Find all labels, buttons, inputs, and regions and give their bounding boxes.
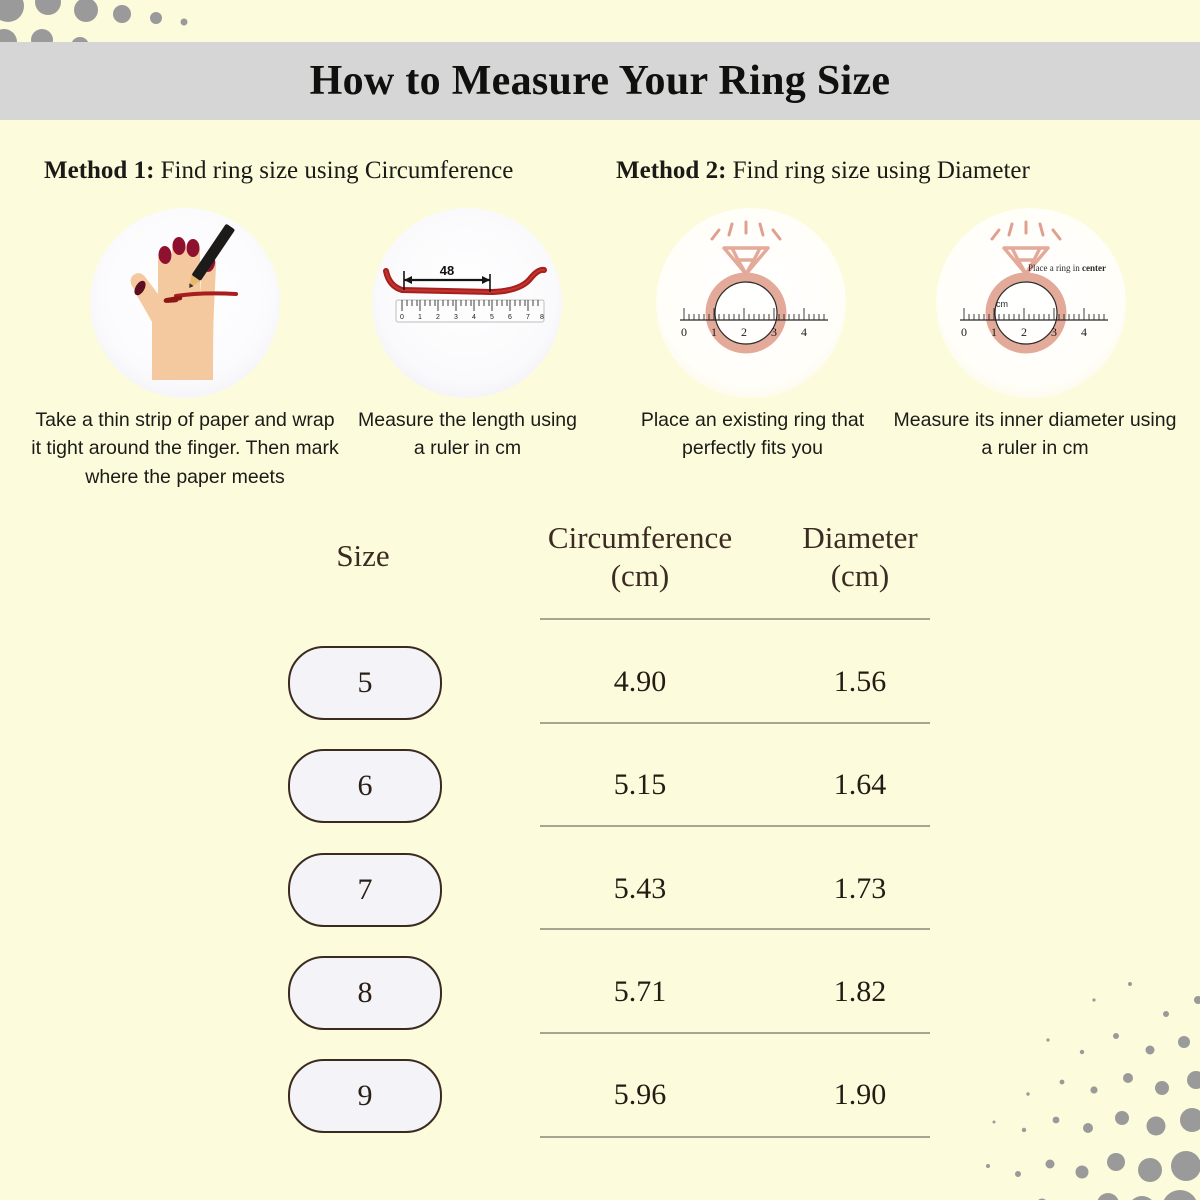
method-2-text: Find ring size using Diameter	[726, 157, 1029, 184]
cell-diameter: 1.73	[760, 872, 960, 906]
cm-unit-label: cm	[996, 299, 1008, 309]
place-ring-note: Place a ring in center	[1028, 263, 1106, 273]
strip-dimension-label: 48	[440, 263, 454, 278]
column-header-diameter-line2: (cm)	[831, 558, 890, 593]
svg-text:1: 1	[418, 314, 422, 321]
column-header-circumference-line1: Circumference	[548, 520, 732, 555]
table-divider	[540, 1136, 930, 1138]
svg-text:3: 3	[771, 325, 777, 339]
halftone-decoration-bottom-right	[970, 970, 1200, 1200]
svg-text:0: 0	[961, 325, 967, 339]
caption-method1-step2: Measure the length using a ruler in cm	[350, 406, 585, 463]
svg-text:4: 4	[472, 314, 476, 321]
caption-method2-step2: Measure its inner diameter using a ruler…	[890, 406, 1180, 463]
table-divider	[540, 928, 930, 930]
svg-text:2: 2	[741, 325, 747, 339]
caption-method2-step1: Place an existing ring that perfectly fi…	[615, 406, 890, 463]
svg-text:6: 6	[508, 314, 512, 321]
svg-text:3: 3	[1051, 325, 1057, 339]
cell-circumference: 5.43	[540, 872, 740, 906]
svg-text:1: 1	[711, 325, 717, 339]
size-pill[interactable]: 7	[288, 853, 442, 927]
method-2-heading: Method 2: Find ring size using Diameter	[616, 157, 1030, 185]
ring-inner-diameter-illustration: Place a ring in center cm 0	[936, 208, 1126, 398]
method-1-heading: Method 1: Find ring size using Circumfer…	[44, 157, 513, 185]
svg-text:4: 4	[801, 325, 807, 339]
hand-with-paper-strip-illustration	[90, 208, 280, 398]
size-pill[interactable]: 5	[288, 646, 442, 720]
svg-text:2: 2	[436, 314, 440, 321]
column-header-circumference-line2: (cm)	[611, 558, 670, 593]
place-ring-note-bold: center	[1082, 263, 1106, 273]
paper-strip-on-ruler-illustration: 48 012 345 678	[372, 208, 562, 398]
cell-diameter: 1.64	[760, 768, 960, 802]
column-header-diameter: Diameter (cm)	[760, 519, 960, 595]
svg-text:0: 0	[681, 325, 687, 339]
table-divider	[540, 618, 930, 620]
table-divider	[540, 825, 930, 827]
column-header-circumference: Circumference (cm)	[540, 519, 740, 595]
cell-circumference: 5.15	[540, 768, 740, 802]
ring-on-ruler-illustration: 012 34	[656, 208, 846, 398]
svg-text:1: 1	[991, 325, 997, 339]
infographic-page: How to Measure Your Ring Size Method 1: …	[0, 0, 1200, 1200]
table-divider	[540, 722, 930, 724]
svg-text:8: 8	[540, 314, 544, 321]
svg-text:3: 3	[454, 314, 458, 321]
cell-circumference: 4.90	[540, 665, 740, 699]
page-title: How to Measure Your Ring Size	[0, 42, 1200, 120]
svg-text:0: 0	[400, 314, 404, 321]
method-1-label: Method 1:	[44, 157, 154, 184]
size-pill[interactable]: 6	[288, 749, 442, 823]
svg-text:4: 4	[1081, 325, 1087, 339]
cell-circumference: 5.96	[540, 1078, 740, 1112]
place-ring-note-prefix: Place a ring in	[1028, 263, 1082, 273]
cell-circumference: 5.71	[540, 975, 740, 1009]
column-header-size: Size	[288, 537, 438, 575]
cell-diameter: 1.82	[760, 975, 960, 1009]
svg-text:5: 5	[490, 314, 494, 321]
cell-diameter: 1.56	[760, 665, 960, 699]
method-1-text: Find ring size using Circumference	[154, 157, 513, 184]
column-header-diameter-line1: Diameter	[802, 520, 917, 555]
table-divider	[540, 1032, 930, 1034]
size-pill[interactable]: 8	[288, 956, 442, 1030]
svg-text:7: 7	[526, 314, 530, 321]
cell-diameter: 1.90	[760, 1078, 960, 1112]
caption-method1-step1: Take a thin strip of paper and wrap it t…	[30, 406, 340, 491]
svg-text:2: 2	[1021, 325, 1027, 339]
method-2-label: Method 2:	[616, 157, 726, 184]
size-pill[interactable]: 9	[288, 1059, 442, 1133]
